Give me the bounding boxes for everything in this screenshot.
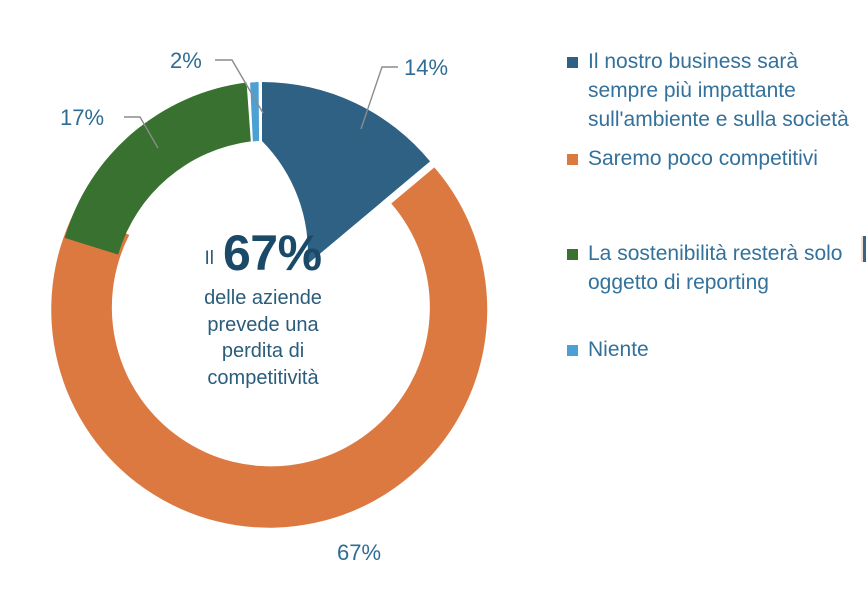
legend-item-business[interactable]: Il nostro business sarà sempre più impat…: [567, 48, 866, 135]
donut-chart: Il 67% delle aziende prevede una perdita…: [0, 0, 866, 590]
legend-label: Niente: [588, 336, 649, 365]
donut-slice-lightblue[interactable]: [250, 82, 259, 141]
donut-slice-blue[interactable]: [262, 82, 430, 264]
legend-item-reporting[interactable]: La sostenibilità resterà solo oggetto di…: [567, 240, 866, 298]
legend-swatch-lightblue-icon: [567, 345, 578, 356]
legend-swatch-blue-icon: [567, 57, 578, 68]
donut-plot-area: Il 67% delle aziende prevede una perdita…: [0, 0, 530, 590]
clipped-edge-marker: [861, 236, 866, 262]
legend-swatch-orange-icon: [567, 154, 578, 165]
legend-label: Saremo poco competitivi: [588, 145, 818, 174]
legend-label: La sostenibilità resterà solo oggetto di…: [588, 240, 866, 298]
value-label-orange: 67%: [337, 540, 381, 566]
value-label-lightblue: 2%: [170, 48, 202, 74]
legend-item-competitivi[interactable]: Saremo poco competitivi: [567, 145, 866, 174]
legend-item-niente[interactable]: Niente: [567, 336, 866, 365]
chart-legend: Il nostro business sarà sempre più impat…: [567, 48, 866, 365]
value-label-blue: 14%: [404, 55, 448, 81]
legend-swatch-green-icon: [567, 249, 578, 260]
legend-label: Il nostro business sarà sempre più impat…: [588, 48, 866, 135]
donut-svg: [0, 0, 530, 590]
value-label-green: 17%: [60, 105, 104, 131]
